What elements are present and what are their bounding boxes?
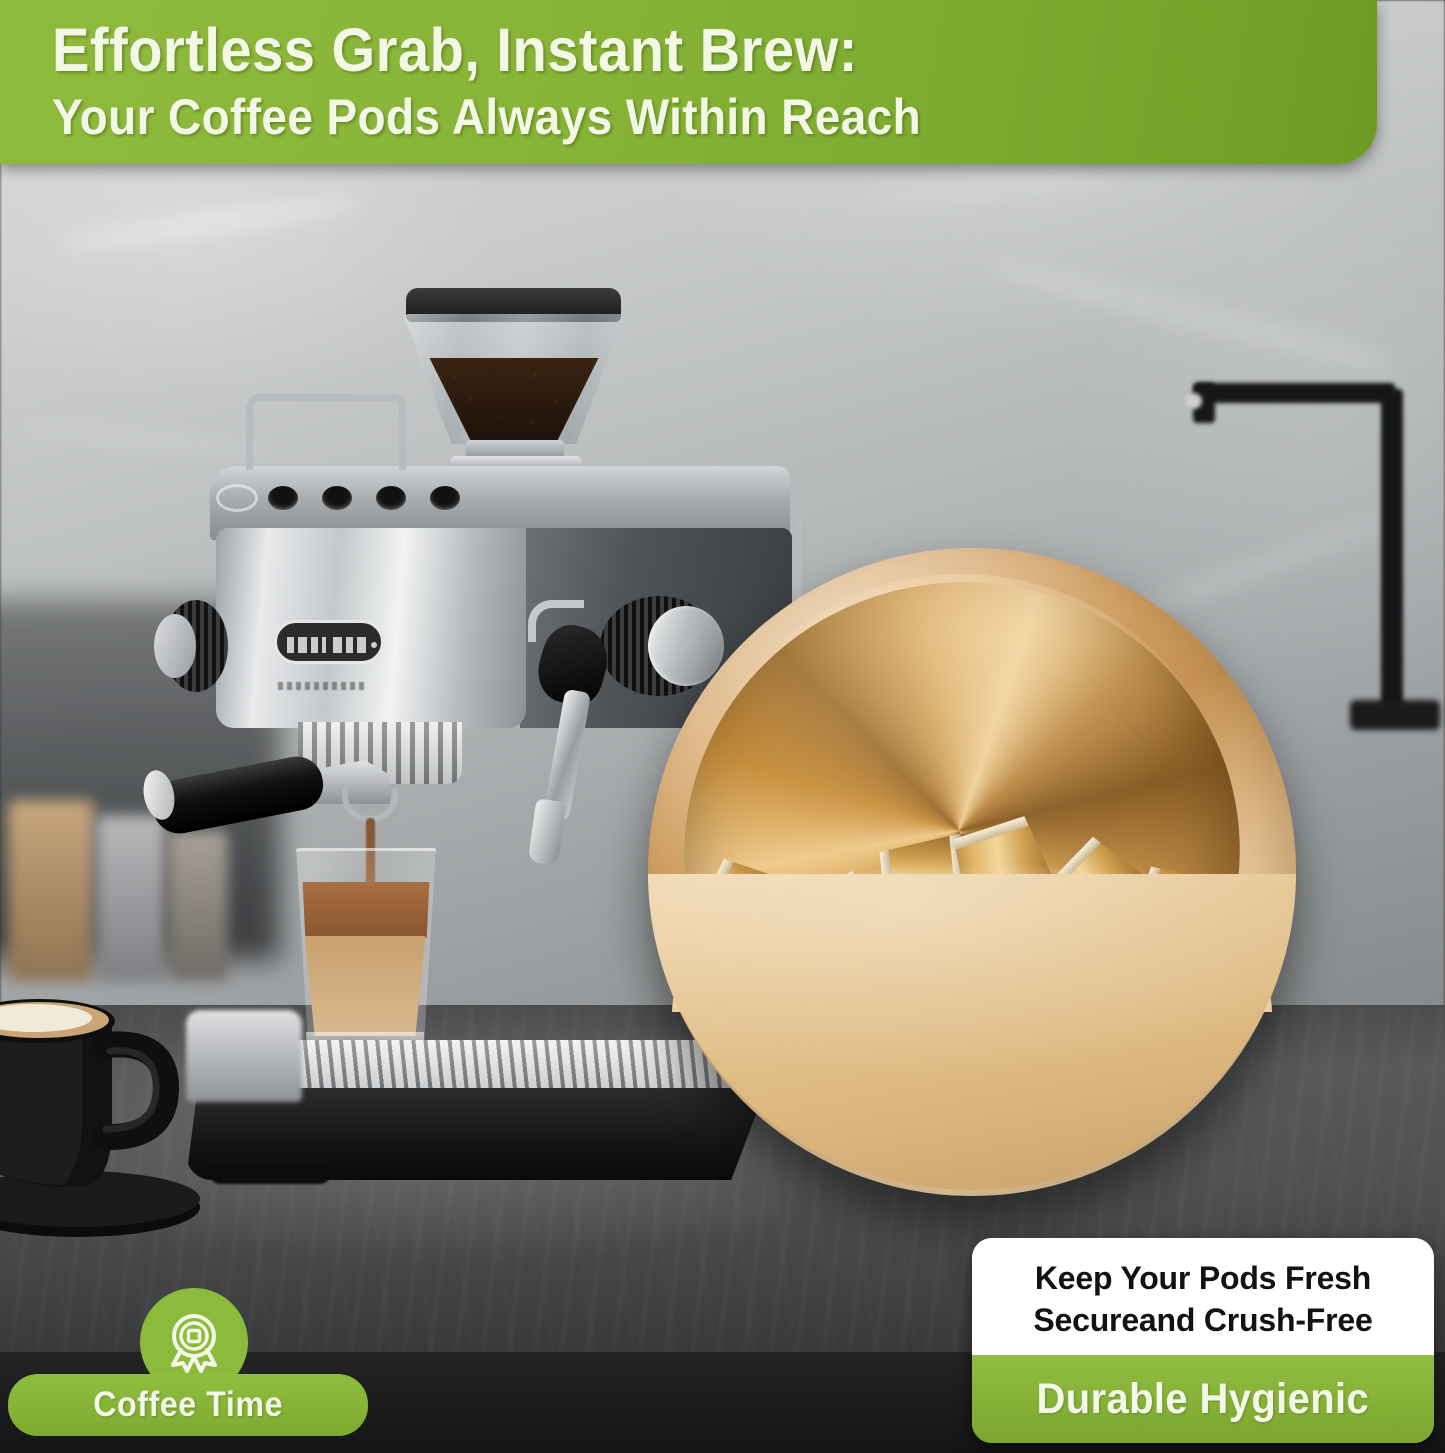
warming-hole xyxy=(430,486,460,510)
warming-hole xyxy=(268,486,298,510)
header-title: Effortless Grab, Instant Brew: xyxy=(52,14,1271,86)
knob-cap xyxy=(648,606,724,686)
kitchen-faucet xyxy=(1195,383,1395,403)
display-glyph xyxy=(287,637,294,653)
warming-hole xyxy=(322,486,352,510)
callout-footer-bar: Durable Hygienic xyxy=(972,1355,1434,1443)
display-glyph xyxy=(333,637,342,653)
kitchen-faucet-aerator xyxy=(1186,393,1202,409)
award-medal-icon xyxy=(163,1311,225,1373)
product-infographic: Effortless Grab, Instant Brew: Your Coff… xyxy=(0,0,1445,1453)
display-glyph xyxy=(311,637,318,653)
callout-line-1: Keep Your Pods Fresh xyxy=(1035,1257,1371,1299)
badge-label: Coffee Time xyxy=(93,1385,283,1425)
header-banner: Effortless Grab, Instant Brew: Your Coff… xyxy=(0,0,1377,164)
display-glyph xyxy=(322,637,326,653)
kitchen-faucet-column xyxy=(1381,389,1403,719)
warming-hole xyxy=(376,486,406,510)
background-jar xyxy=(8,800,94,980)
machine-display-panel xyxy=(274,620,384,664)
machine-knob-right xyxy=(600,596,718,696)
portafilter-handle xyxy=(148,752,327,838)
espresso-crema-layer xyxy=(300,882,432,938)
coffee-time-badge: Coffee Time xyxy=(8,1288,368,1453)
portafilter-spout xyxy=(342,788,398,822)
machine-brand-mark xyxy=(278,682,368,690)
header-subtitle: Your Coffee Pods Always Within Reach xyxy=(52,86,1271,148)
machine-knob-left xyxy=(164,600,228,692)
product-photo xyxy=(0,0,1445,1453)
badge-pill: Coffee Time xyxy=(8,1374,368,1436)
callout-footer-label: Durable Hygienic xyxy=(1037,1375,1370,1424)
display-glyph xyxy=(298,637,307,653)
feature-callout-card: Keep Your Pods Fresh Secureand Crush-Fre… xyxy=(972,1238,1434,1443)
display-glyph xyxy=(357,637,366,653)
machine-handle-bar xyxy=(246,394,406,470)
callout-text-area: Keep Your Pods Fresh Secureand Crush-Fre… xyxy=(972,1238,1434,1355)
display-glyph xyxy=(371,642,377,648)
background-appliance xyxy=(186,1010,302,1102)
steam-wand-tip xyxy=(528,798,567,866)
kitchen-faucet-base xyxy=(1350,700,1440,730)
warming-plate-ring xyxy=(216,484,258,512)
espresso-milk-layer xyxy=(302,936,428,1036)
callout-line-2: Secureand Crush-Free xyxy=(1033,1299,1372,1341)
display-glyph xyxy=(346,637,353,653)
